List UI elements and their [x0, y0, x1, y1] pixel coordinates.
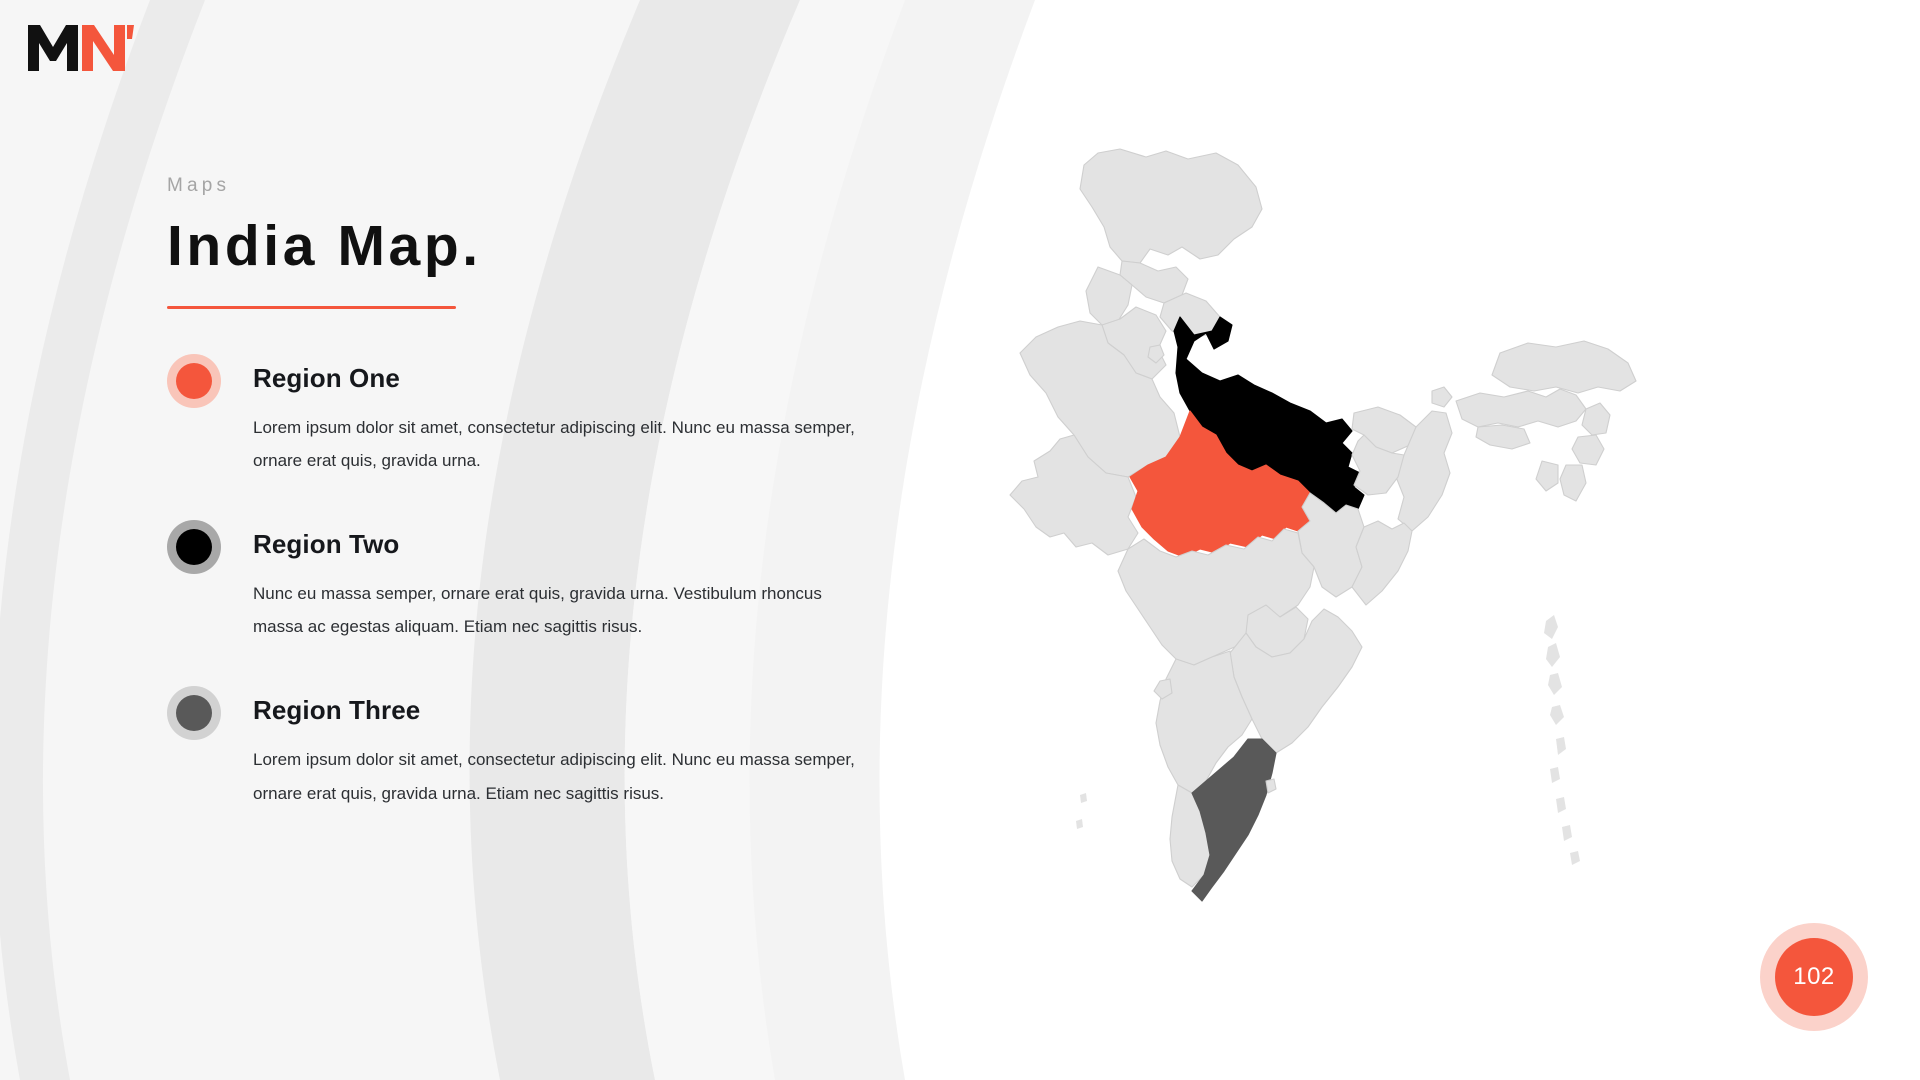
brand-logo-mark	[26, 22, 136, 74]
region-two-marker	[167, 520, 221, 574]
region-list: Region One Lorem ipsum dolor sit amet, c…	[167, 351, 867, 810]
andaman-nicobar-islands[interactable]	[1544, 615, 1580, 865]
state-nagaland[interactable]	[1582, 403, 1610, 435]
eyebrow-label: Maps	[167, 176, 867, 195]
state-manipur[interactable]	[1572, 435, 1604, 465]
state-puducherry[interactable]	[1266, 779, 1276, 793]
region-one-description: Lorem ipsum dolor sit amet, consectetur …	[253, 411, 867, 477]
lakshadweep-islands[interactable]	[1076, 793, 1087, 829]
title-underline	[167, 306, 456, 309]
state-odisha[interactable]	[1352, 521, 1412, 605]
region-one-marker	[167, 354, 221, 408]
content-column: Maps India Map. Region One Lorem ipsum d…	[167, 176, 867, 810]
state-mizoram[interactable]	[1560, 465, 1586, 501]
region-three-title: Region Three	[253, 683, 867, 723]
region-item-one[interactable]: Region One Lorem ipsum dolor sit amet, c…	[167, 351, 867, 477]
region-two-dot	[176, 529, 212, 565]
state-assam[interactable]	[1456, 389, 1586, 427]
region-three-description: Lorem ipsum dolor sit amet, consectetur …	[253, 743, 867, 809]
brand-logo[interactable]	[26, 22, 136, 74]
page-title: India Map.	[167, 217, 867, 277]
state-sikkim[interactable]	[1432, 387, 1452, 407]
state-jammu-kashmir[interactable]	[1080, 149, 1262, 263]
region-two-description: Nunc eu massa semper, ornare erat quis, …	[253, 577, 867, 643]
region-item-two[interactable]: Region Two Nunc eu massa semper, ornare …	[167, 517, 867, 643]
region-one-title: Region One	[253, 351, 867, 391]
page-number-badge[interactable]: 102	[1760, 923, 1868, 1031]
slide-canvas: Maps India Map. Region One Lorem ipsum d…	[0, 0, 1920, 1080]
region-three-dot	[176, 695, 212, 731]
region-three-marker	[167, 686, 221, 740]
india-map-svg	[980, 135, 1680, 910]
india-map[interactable]	[980, 135, 1680, 910]
state-arunachal-pradesh[interactable]	[1492, 341, 1636, 393]
region-two-title: Region Two	[253, 517, 867, 557]
region-one-dot	[176, 363, 212, 399]
state-tripura[interactable]	[1536, 461, 1558, 491]
state-meghalaya[interactable]	[1476, 425, 1530, 449]
page-number-value: 102	[1775, 938, 1853, 1016]
region-item-three[interactable]: Region Three Lorem ipsum dolor sit amet,…	[167, 683, 867, 809]
